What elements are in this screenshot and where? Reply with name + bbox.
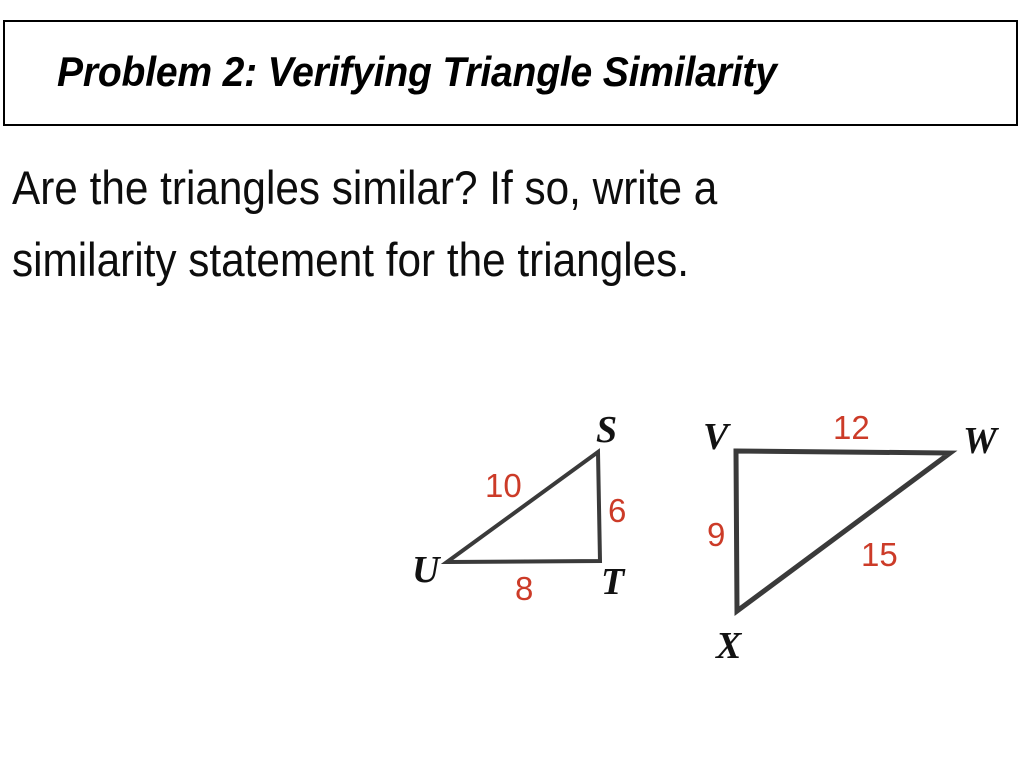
measure-label-ut-8: 8 [515, 572, 533, 605]
measure-label-xw-15: 15 [861, 538, 898, 571]
triangle-vwx-outline [736, 451, 950, 611]
vertex-label-w: W [963, 422, 997, 460]
page-title: Problem 2: Verifying Triangle Similarity [57, 46, 931, 98]
vertex-label-v: V [703, 418, 728, 456]
measure-label-vx-9: 9 [707, 518, 725, 551]
triangle-vwx-path [736, 451, 950, 611]
vertex-label-u: U [412, 551, 439, 589]
vertex-label-s: S [596, 411, 617, 449]
vertex-label-x: X [716, 627, 741, 665]
measure-label-us-10: 10 [485, 469, 522, 502]
measure-label-st-6: 6 [608, 494, 626, 527]
triangle-stu-outline [447, 452, 600, 562]
measure-label-vw-12: 12 [833, 411, 870, 444]
prompt-line-2: similarity statement for the triangles. [12, 224, 903, 296]
triangle-stu-path [447, 452, 600, 562]
prompt-text: Are the triangles similar? If so, write … [12, 152, 903, 296]
title-box: Problem 2: Verifying Triangle Similarity [3, 20, 1018, 126]
vertex-label-t: T [601, 563, 624, 601]
prompt-line-1: Are the triangles similar? If so, write … [12, 152, 903, 224]
